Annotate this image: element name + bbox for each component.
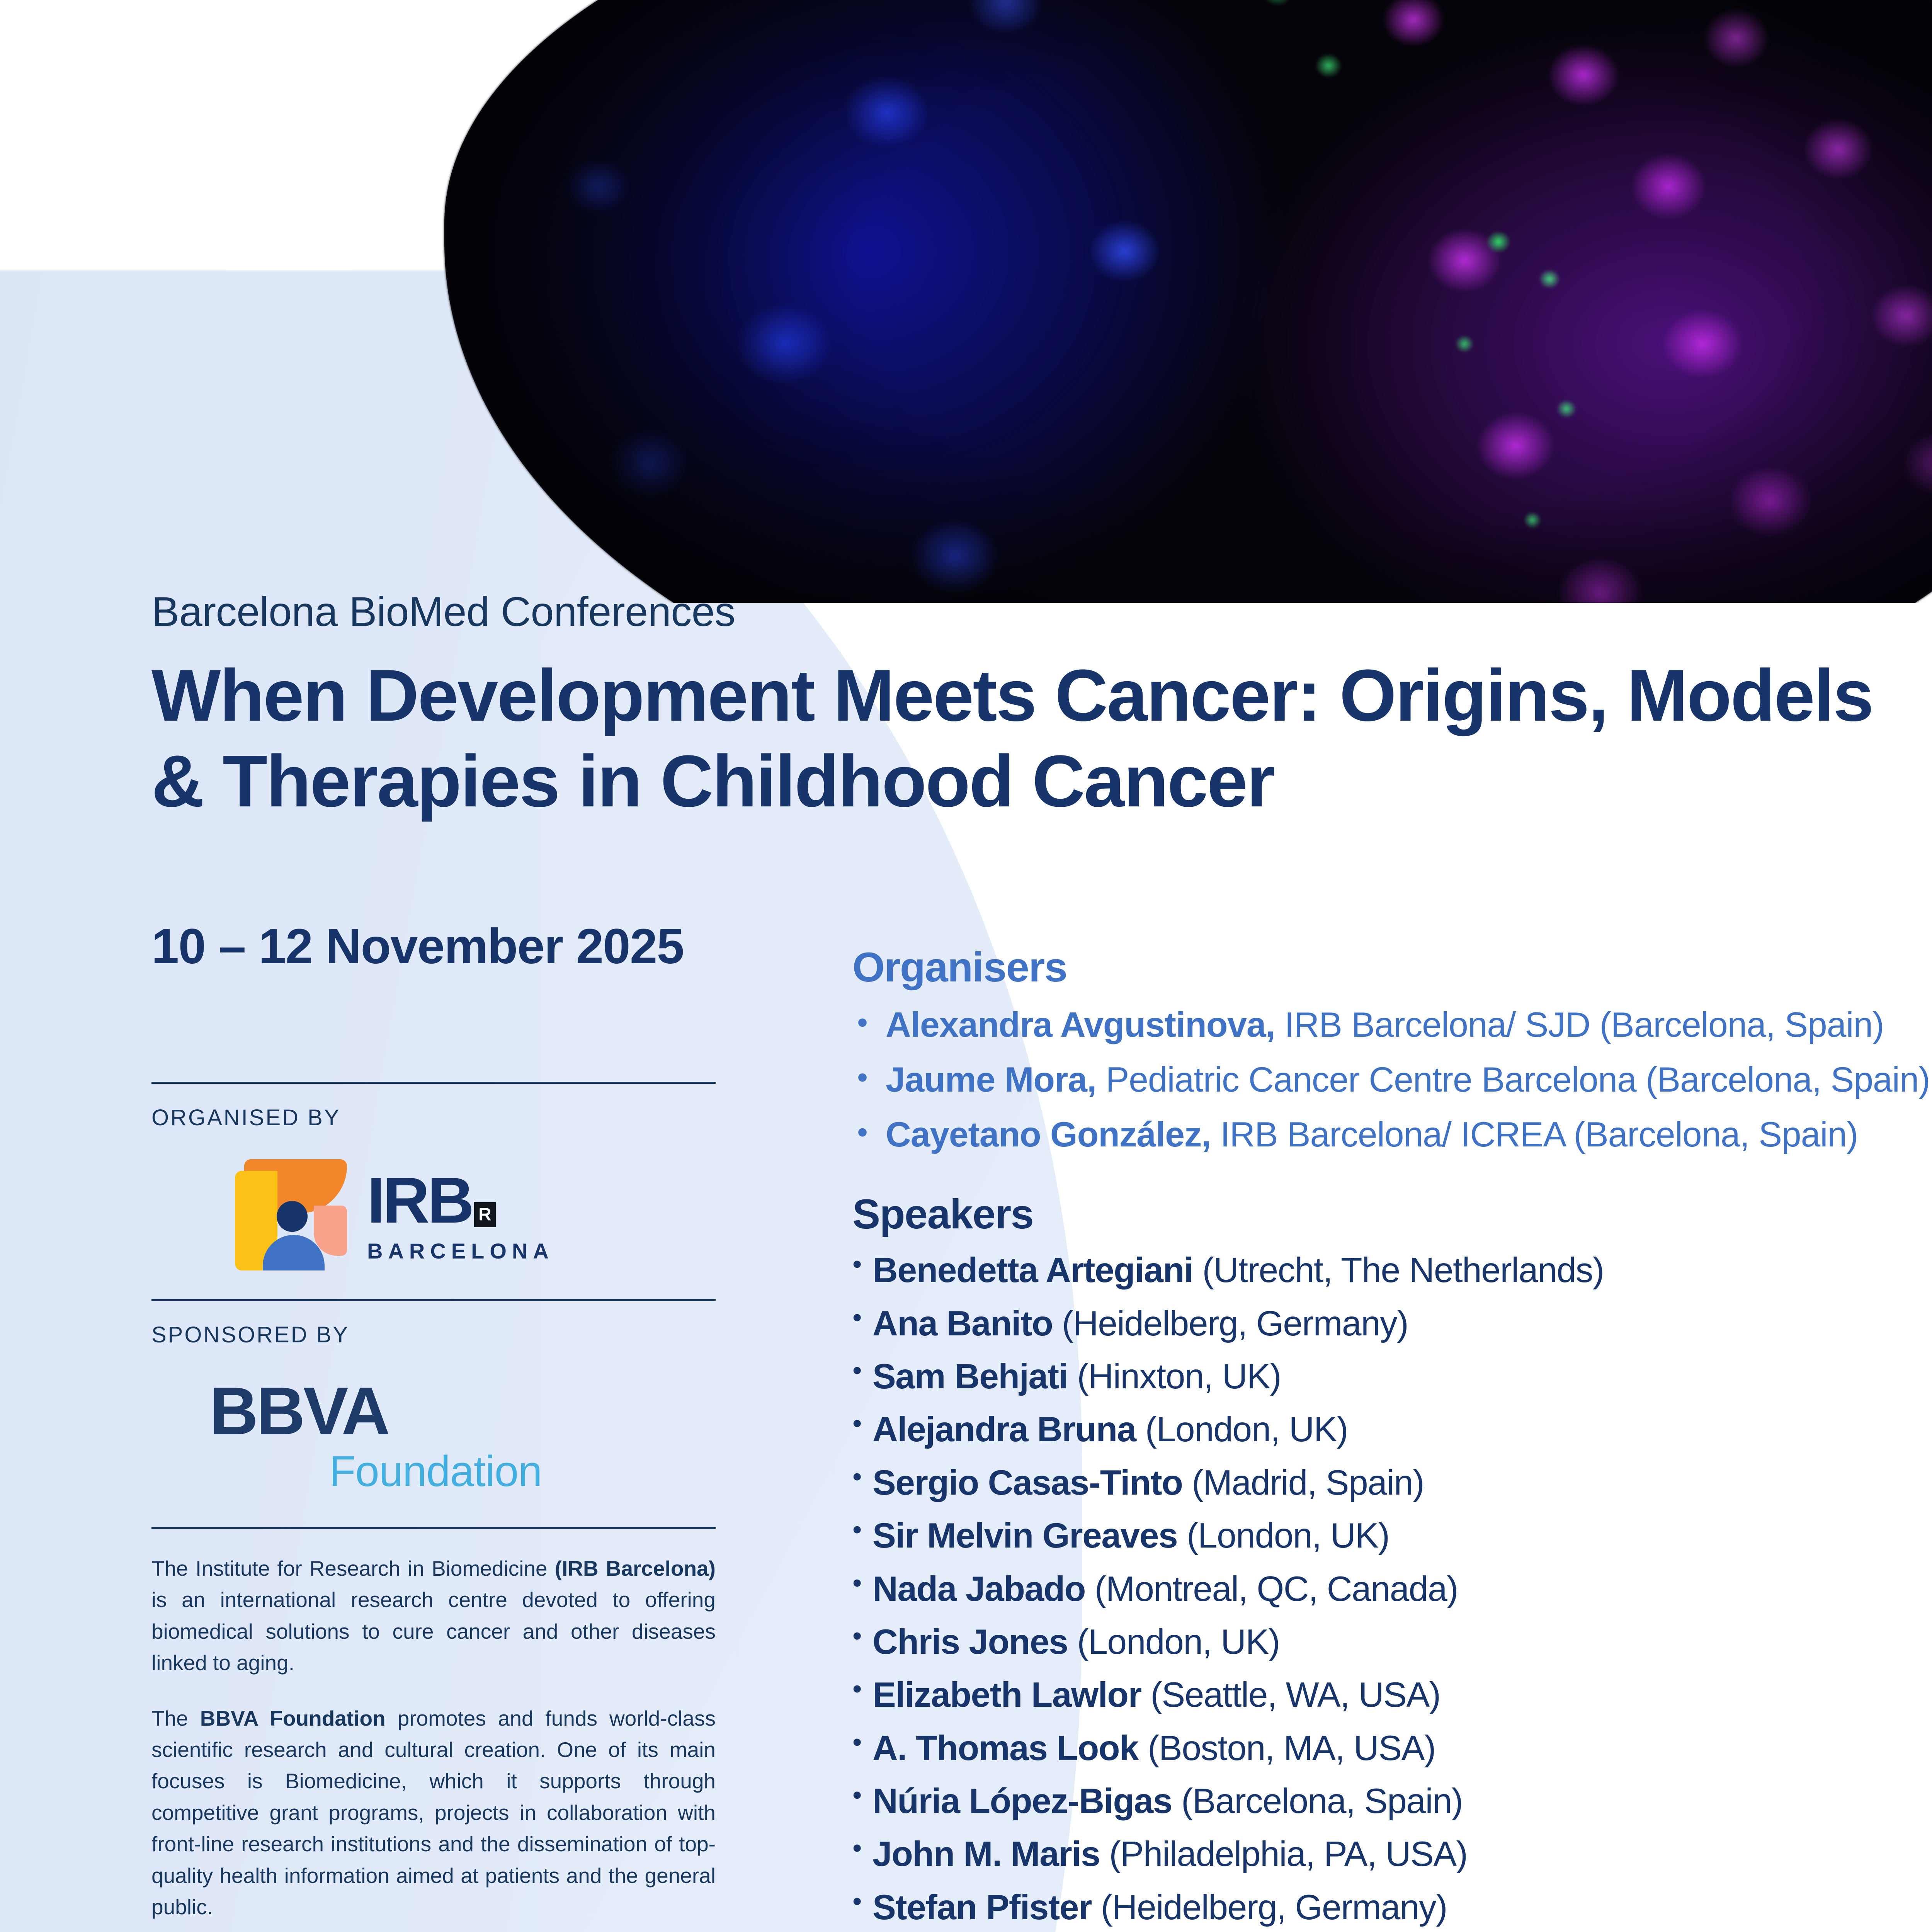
series-kicker: Barcelona BioMed Conferences: [151, 587, 1932, 636]
organisers-list: Alexandra Avgustinova, IRB Barcelona/ SJ…: [852, 1002, 1932, 1158]
sidebar-paragraph-1: The Institute for Research in Biomedicin…: [151, 1553, 716, 1679]
speaker-item: Sir Melvin Greaves (London, UK): [852, 1515, 1932, 1556]
divider-top: [151, 1082, 716, 1084]
divider-mid: [151, 1299, 716, 1301]
speakers-heading: Speakers: [852, 1190, 1932, 1238]
event-dates: 10 – 12 November 2025: [151, 918, 684, 975]
main-content-column: Organisers Alexandra Avgustinova, IRB Ba…: [852, 943, 1932, 1932]
irb-barcelona-logo: IRBR BARCELONA: [235, 1159, 716, 1270]
bbva-wordmark: BBVA: [209, 1380, 716, 1442]
bbva-foundation-subtitle: Foundation: [329, 1446, 716, 1496]
speaker-item: Benedetta Artegiani (Utrecht, The Nether…: [852, 1250, 1932, 1291]
organiser-item: Alexandra Avgustinova, IRB Barcelona/ SJ…: [852, 1002, 1932, 1048]
irb-symbol-icon: [235, 1159, 347, 1270]
bbva-foundation-logo: BBVA Foundation: [209, 1380, 716, 1496]
speaker-item: A. Thomas Look (Boston, MA, USA): [852, 1728, 1932, 1769]
organiser-item: Jaume Mora, Pediatric Cancer Centre Barc…: [852, 1057, 1932, 1103]
sidebar-paragraph-2: The BBVA Foundation promotes and funds w…: [151, 1703, 716, 1923]
speaker-item: Sam Behjati (Hinxton, UK): [852, 1356, 1932, 1397]
speaker-item: Núria López-Bigas (Barcelona, Spain): [852, 1781, 1932, 1822]
page-title: When Development Meets Cancer: Origins, …: [151, 653, 1932, 825]
speaker-item: Chris Jones (London, UK): [852, 1621, 1932, 1663]
organisers-heading: Organisers: [852, 943, 1932, 991]
irb-wordmark: IRB: [367, 1168, 472, 1233]
divider-bottom: [151, 1527, 716, 1529]
registered-trademark-icon: R: [474, 1202, 495, 1227]
speaker-item: Elizabeth Lawlor (Seattle, WA, USA): [852, 1674, 1932, 1716]
sponsored-by-label: SPONSORED BY: [151, 1322, 716, 1348]
speaker-item: Sergio Casas-Tinto (Madrid, Spain): [852, 1462, 1932, 1503]
sidebar-description-paragraphs: The Institute for Research in Biomedicin…: [151, 1553, 716, 1932]
speaker-item: Stefan Pfister (Heidelberg, Germany): [852, 1887, 1932, 1928]
speakers-list: Benedetta Artegiani (Utrecht, The Nether…: [852, 1250, 1932, 1932]
speaker-item: Alejandra Bruna (London, UK): [852, 1409, 1932, 1450]
speaker-item: Nada Jabado (Montreal, QC, Canada): [852, 1568, 1932, 1610]
headline-block: Barcelona BioMed Conferences When Develo…: [151, 587, 1932, 825]
irb-subtitle: BARCELONA: [367, 1240, 554, 1262]
speaker-item: John M. Maris (Philadelphia, PA, USA): [852, 1833, 1932, 1875]
left-sidebar: ORGANISED BY IRBR BARCELONA SPONSORED BY…: [151, 1082, 716, 1932]
speaker-item: Ana Banito (Heidelberg, Germany): [852, 1303, 1932, 1344]
organiser-item: Cayetano González, IRB Barcelona/ ICREA …: [852, 1112, 1932, 1158]
organised-by-label: ORGANISED BY: [151, 1105, 716, 1131]
